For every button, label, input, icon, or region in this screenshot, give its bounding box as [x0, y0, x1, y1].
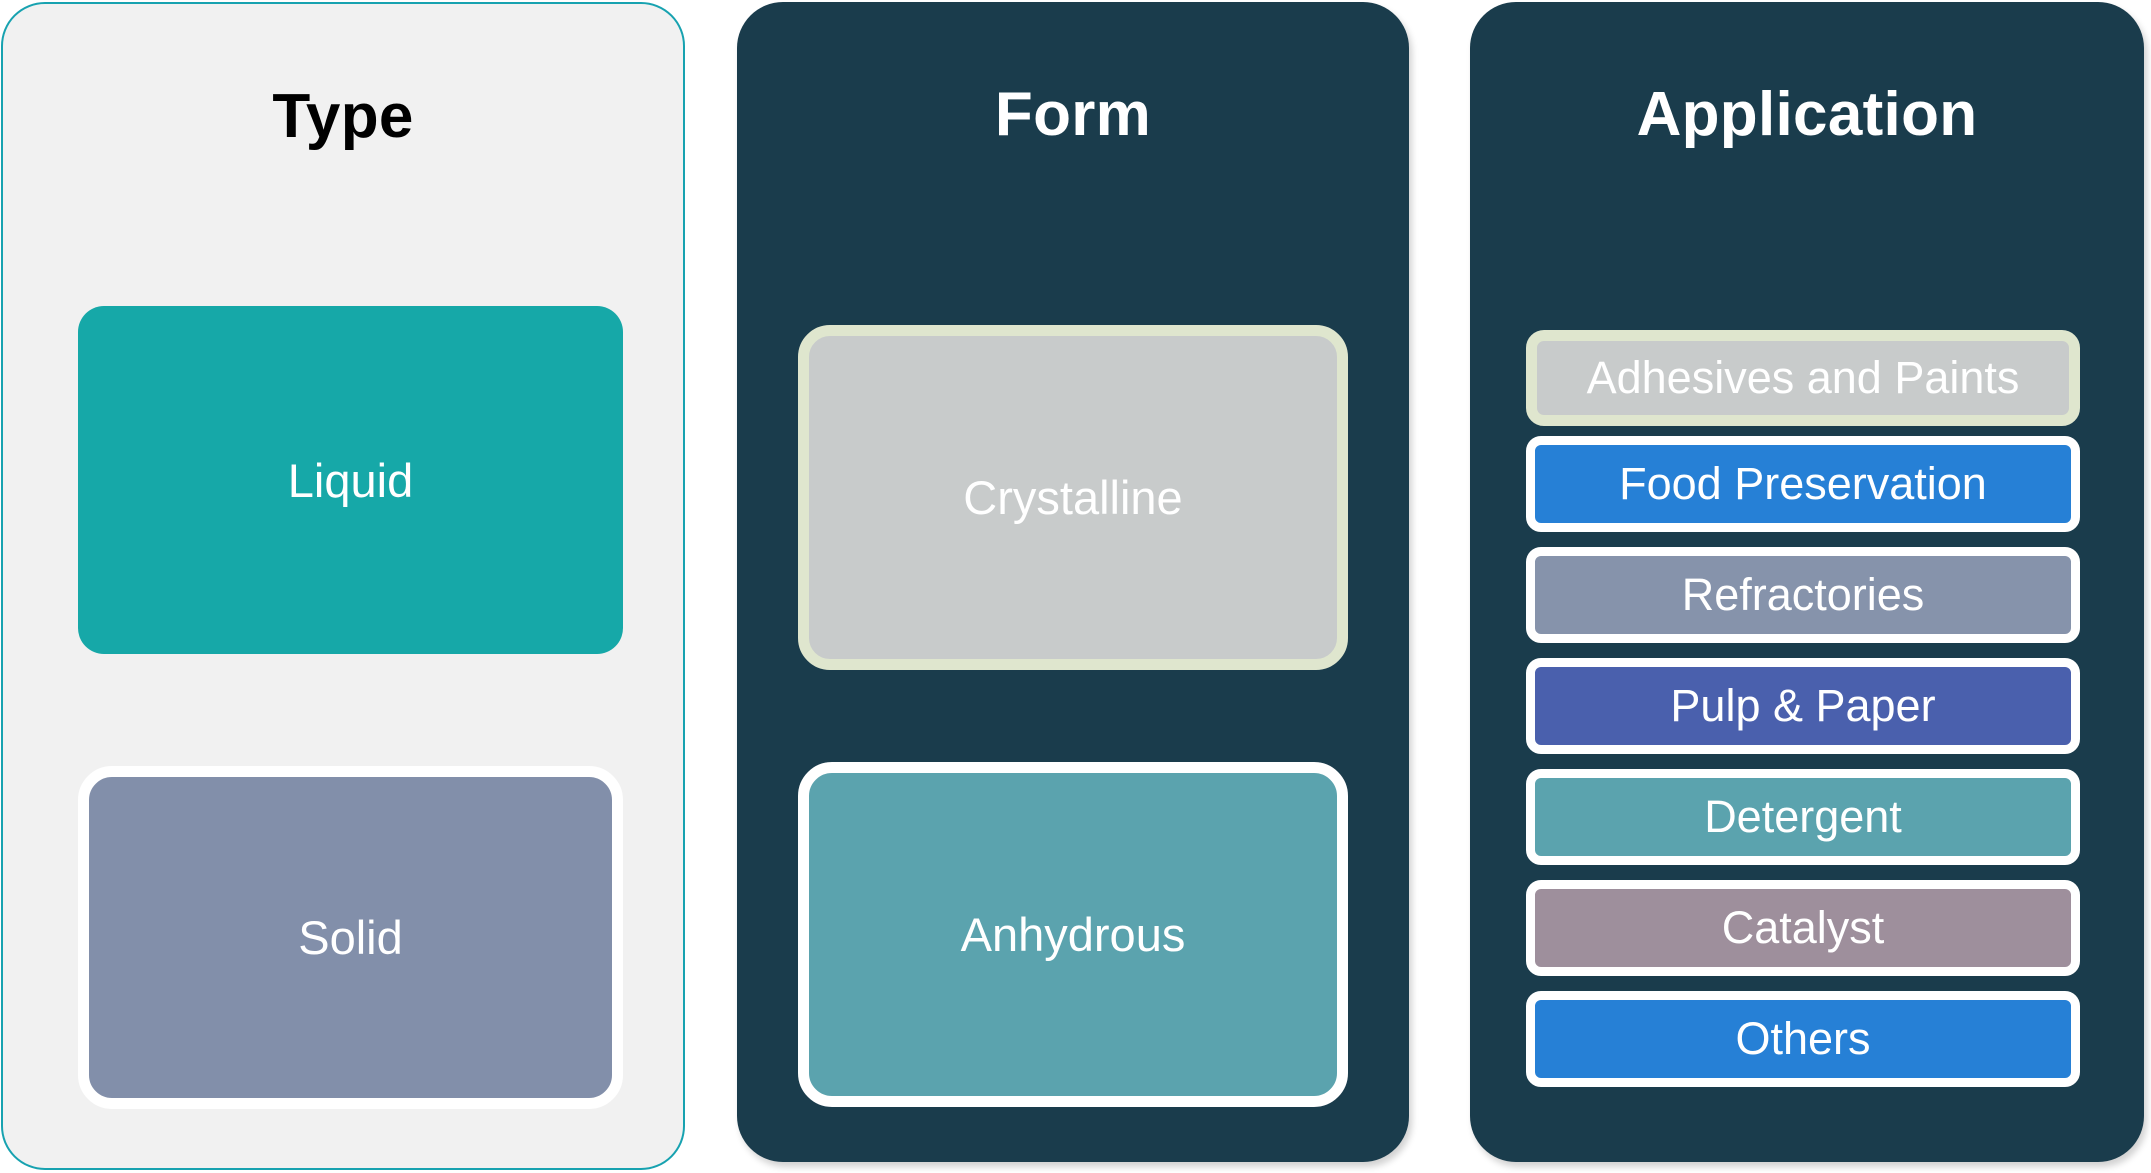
panel-form: Form Crystalline Anhydrous	[737, 2, 1409, 1162]
application-item-refractories[interactable]: Refractories	[1526, 547, 2080, 643]
diagram-canvas: Type Liquid Solid Form Crystalline Anhyd…	[0, 0, 2151, 1173]
type-item-liquid[interactable]: Liquid	[78, 306, 623, 654]
panel-type-title: Type	[272, 81, 413, 152]
type-item-solid-label: Solid	[298, 910, 403, 965]
form-item-crystalline-label: Crystalline	[963, 470, 1182, 525]
application-item-adhesives-and-paints[interactable]: Adhesives and Paints	[1526, 330, 2080, 426]
panel-application-title: Application	[1637, 79, 1978, 150]
application-item-label: Refractories	[1682, 569, 1925, 621]
application-item-label: Food Preservation	[1619, 458, 1987, 510]
form-item-crystalline[interactable]: Crystalline	[798, 325, 1348, 670]
application-item-catalyst[interactable]: Catalyst	[1526, 880, 2080, 976]
type-item-solid[interactable]: Solid	[78, 766, 623, 1109]
form-item-anhydrous[interactable]: Anhydrous	[798, 762, 1348, 1107]
application-item-others[interactable]: Others	[1526, 991, 2080, 1087]
form-item-anhydrous-label: Anhydrous	[961, 907, 1186, 962]
panel-type: Type Liquid Solid	[1, 2, 685, 1170]
application-item-label: Adhesives and Paints	[1587, 352, 2020, 404]
panel-form-title: Form	[995, 79, 1151, 150]
application-item-food-preservation[interactable]: Food Preservation	[1526, 436, 2080, 532]
panel-application: Application Adhesives and Paints Food Pr…	[1470, 2, 2144, 1162]
application-item-label: Pulp & Paper	[1670, 680, 1935, 732]
application-item-label: Detergent	[1704, 791, 1902, 843]
application-item-pulp-and-paper[interactable]: Pulp & Paper	[1526, 658, 2080, 754]
application-item-label: Catalyst	[1722, 902, 1885, 954]
application-item-detergent[interactable]: Detergent	[1526, 769, 2080, 865]
application-item-label: Others	[1735, 1013, 1870, 1065]
type-item-liquid-label: Liquid	[288, 453, 413, 508]
